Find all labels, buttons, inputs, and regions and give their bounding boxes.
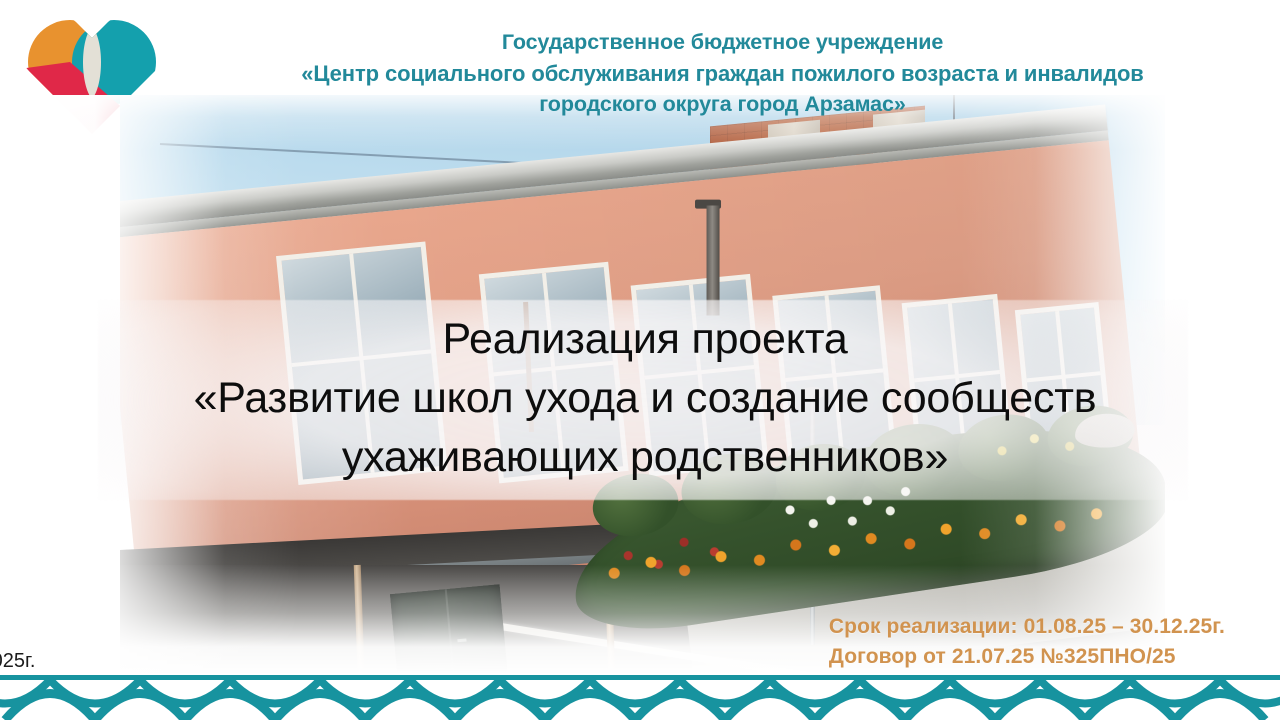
header-line-3: городского округа город Арзамас»: [180, 89, 1265, 120]
scallop-border-svg: [0, 675, 1280, 720]
door-handle: [457, 639, 466, 643]
term-contract: Договор от 21.07.25 №325ПНО/25: [829, 642, 1225, 672]
organization-header: Государственное бюджетное учреждение «Це…: [180, 27, 1265, 120]
scallop-border: [0, 675, 1280, 720]
presentation-slide: Государственное бюджетное учреждение «Це…: [0, 0, 1280, 720]
title-line-1: Реализация проекта: [80, 310, 1210, 369]
term-period: Срок реализации: 01.08.25 – 30.12.25г.: [829, 612, 1225, 642]
header-line-1: Государственное бюджетное учреждение: [180, 27, 1265, 58]
header-line-2: «Центр социального обслуживания граждан …: [180, 58, 1265, 89]
chimney: [707, 205, 720, 315]
title-line-2: «Развитие школ ухода и создание сообщест…: [80, 369, 1210, 428]
year-value: 2025г.: [0, 650, 35, 672]
project-term-block: Срок реализации: 01.08.25 – 30.12.25г. Д…: [829, 612, 1225, 672]
title-line-3: ухаживающих родственников»: [80, 428, 1210, 487]
page-title: Реализация проекта «Развитие школ ухода …: [80, 310, 1210, 487]
